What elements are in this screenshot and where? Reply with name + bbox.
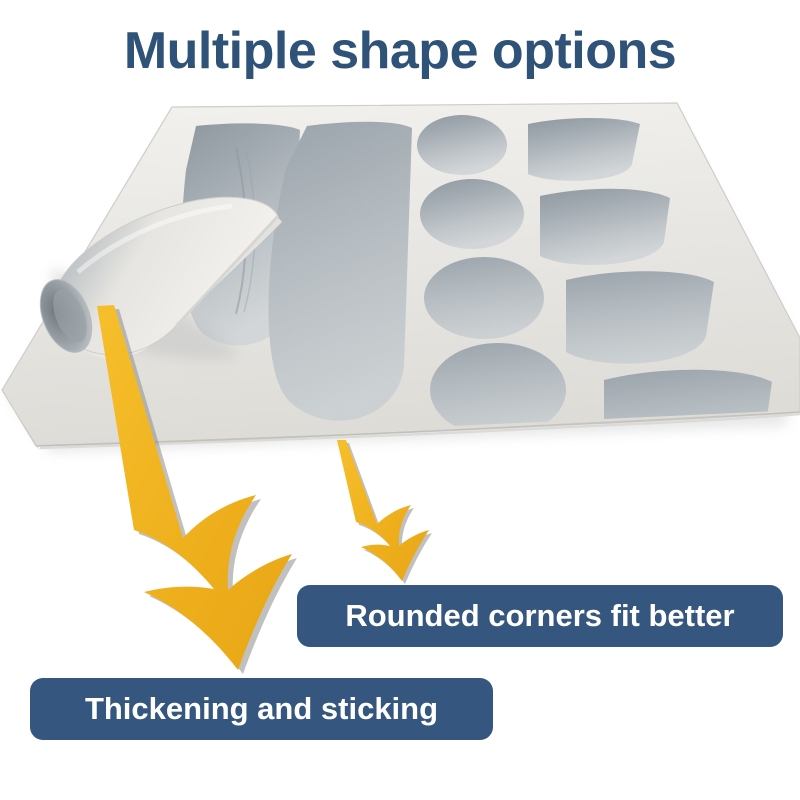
product-photo [0,90,800,480]
pad-rounded-square-1 [528,118,640,181]
product-infographic: Multiple shape options [0,0,800,800]
callout-thickening-sticking: Thickening and sticking [30,678,493,740]
callout-rounded-corners: Rounded corners fit better [297,585,783,647]
pad-rounded-square-3 [566,271,714,363]
pad-oval-1 [417,115,507,175]
callout-rounded-corners-label: Rounded corners fit better [345,598,734,634]
pad-oval-2 [420,179,524,249]
pad-rounded-square-2 [540,189,670,265]
sticker-sheet [2,103,800,468]
pad-oval-3 [424,257,544,339]
page-title: Multiple shape options [0,24,800,79]
pad-rounded-rect-2 [268,122,412,421]
callout-thickening-sticking-label: Thickening and sticking [85,691,438,727]
